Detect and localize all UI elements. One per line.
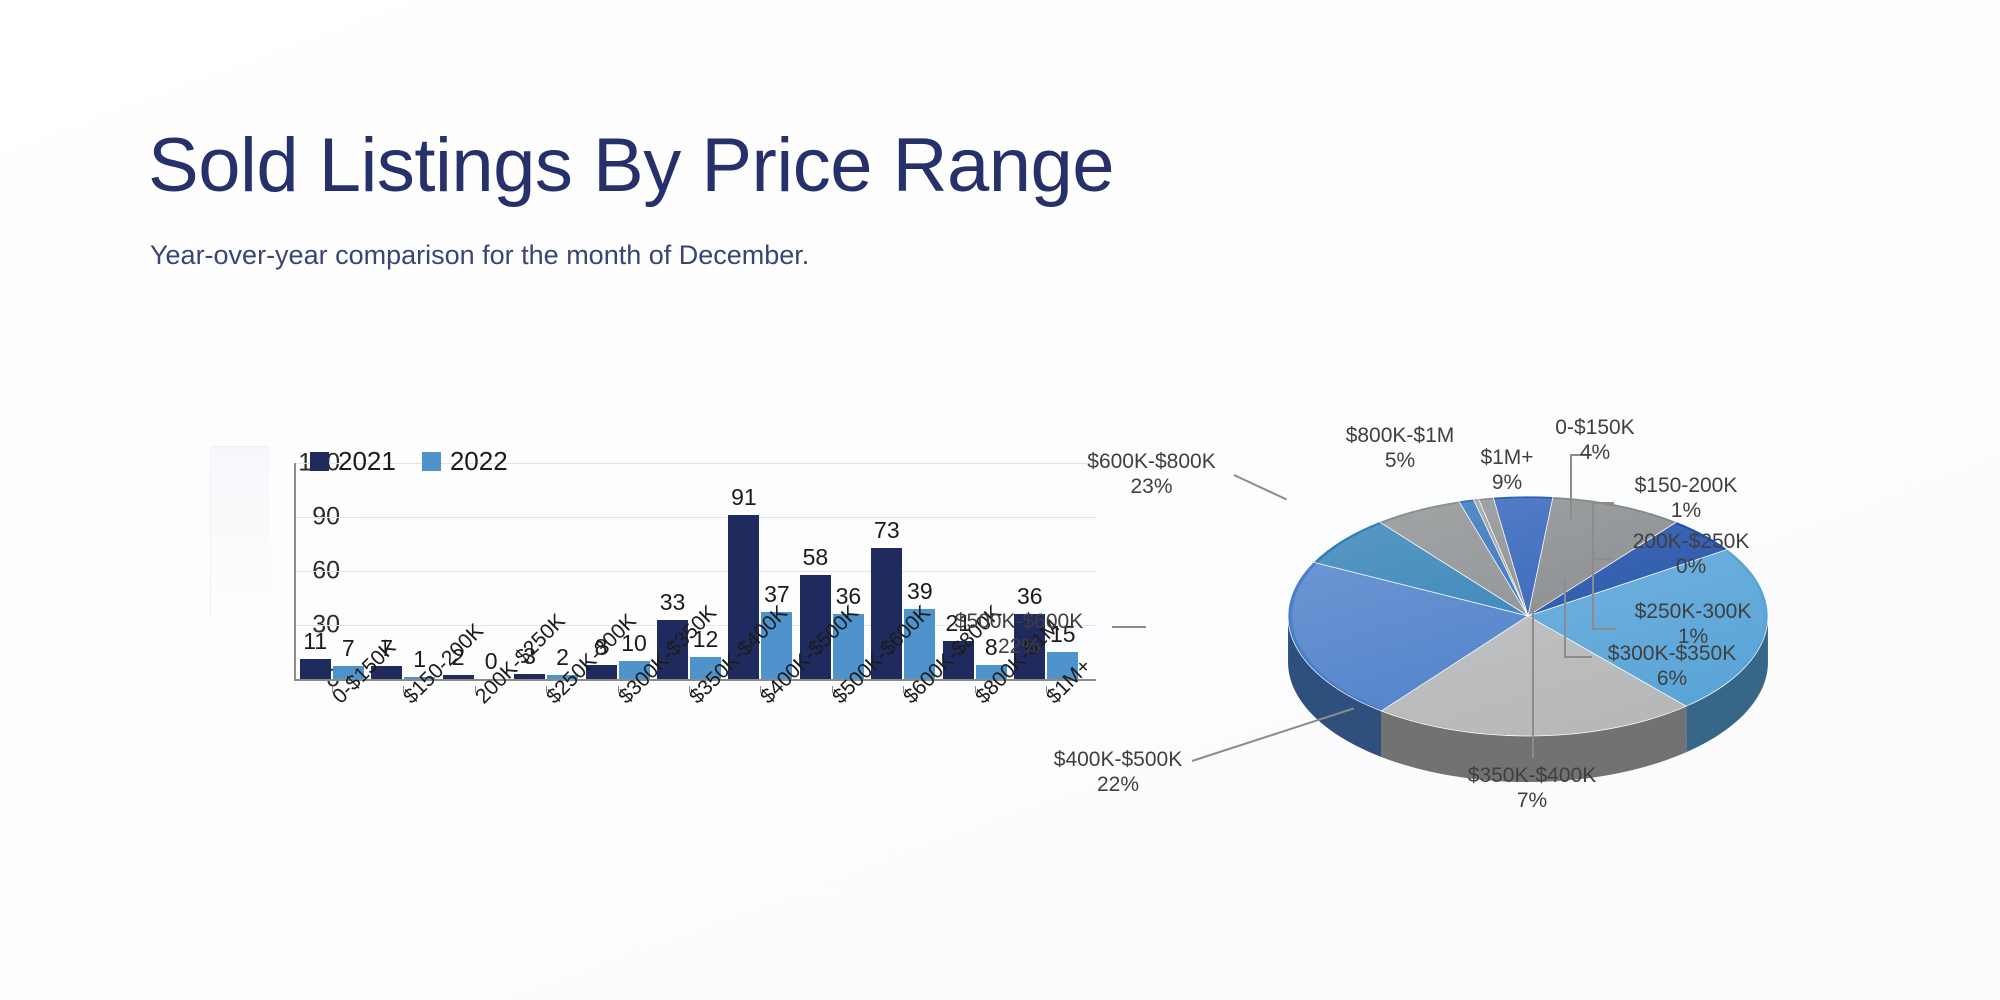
slide-canvas: Sold Listings By Price Range Year-over-y… (0, 0, 2000, 1000)
bar-value-label: 11 (303, 628, 327, 655)
bar-chart-x-labels: 0-$150K$150-200K200K-$250K$250K-300K$300… (296, 686, 1082, 826)
pie-label-pct-1m-plus: 9% (1462, 471, 1552, 496)
pie-label-name-200k-250k: 200K-$250K (1633, 530, 1750, 553)
pie-label-name-1m-plus: $1M+ (1480, 446, 1533, 469)
pie-label-pct-600k-800k: 23% (1064, 475, 1239, 500)
bar-y2022[interactable]: 37 (761, 463, 792, 679)
x-label-cell: $150-200K (367, 686, 438, 826)
pie-label-0-150k: 0-$150K 4% (1530, 416, 1660, 466)
leader-line-500k-600k (1112, 626, 1146, 628)
page-title: Sold Listings By Price Range (148, 128, 1114, 204)
pie-label-name-250k-300k: $250K-300K (1635, 600, 1752, 623)
pie-label-pct-400k-500k: 22% (1038, 773, 1198, 798)
bar-value-label: 7 (342, 635, 355, 662)
pie-label-name-150-200k: $150-200K (1635, 474, 1738, 497)
bar-value-label: 91 (731, 484, 757, 511)
leader-line-350k-400k (1532, 608, 1534, 758)
pie-label-name-500k-600k: $500K-$600K (955, 610, 1083, 633)
bar-y2022[interactable]: 0 (476, 463, 507, 679)
pie-label-pct-300k-350k: 6% (1592, 667, 1752, 692)
pie-label-pct-0-150k: 4% (1530, 441, 1660, 466)
pie-label-600k-800k: $600K-$800K 23% (1064, 450, 1239, 500)
pie-label-300k-350k: $300K-$350K 6% (1592, 642, 1752, 692)
pie-label-pct-150-200k: 1% (1616, 499, 1756, 524)
bar-rect (300, 659, 331, 679)
leader-line-250k-300k-h (1592, 628, 1616, 630)
pie-label-pct-800k-1m: 5% (1330, 449, 1470, 474)
pie-label-name-800k-1m: $800K-$1M (1346, 424, 1455, 447)
pie-chart-svg (1130, 430, 1950, 910)
leader-line-250k-300k (1592, 502, 1594, 630)
pie-label-name-600k-800k: $600K-$800K (1087, 450, 1215, 473)
pie-label-name-350k-400k: $350K-$400K (1468, 764, 1596, 787)
page-subtitle: Year-over-year comparison for the month … (150, 240, 809, 271)
bar-group: 117 (296, 463, 367, 679)
x-label-cell: $350K-$400K (653, 686, 724, 826)
pie-label-pct-200k-250k: 0% (1616, 555, 1766, 580)
x-label-cell: $300K-$350K (582, 686, 653, 826)
bar-y2022[interactable]: 36 (833, 463, 864, 679)
bar-y2022[interactable]: 10 (619, 463, 650, 679)
bar-value-label: 36 (1017, 583, 1043, 610)
bar-value-label: 33 (660, 589, 686, 616)
pie-label-name-400k-500k: $400K-$500K (1054, 748, 1182, 771)
pie-chart[interactable]: $600K-$800K 23% $800K-$1M 5% $1M+ 9% 0-$… (1130, 430, 1950, 910)
bar-y2022[interactable]: 2 (547, 463, 578, 679)
x-label-cell: $400K-$500K (725, 686, 796, 826)
pie-label-200k-250k: 200K-$250K 0% (1616, 530, 1766, 580)
bar-y2022[interactable]: 1 (404, 463, 435, 679)
pie-label-150-200k: $150-200K 1% (1616, 474, 1756, 524)
leader-line-300k-350k-v (1564, 580, 1566, 658)
pie-label-name-300k-350k: $300K-$350K (1608, 642, 1736, 665)
leader-line-300k-350k-h (1564, 656, 1592, 658)
leader-line-200k-250k (1592, 558, 1614, 560)
x-label-cell: $250K-300K (510, 686, 581, 826)
pie-label-pct-350k-400k: 7% (1452, 789, 1612, 814)
bar-y2021[interactable]: 11 (300, 463, 331, 679)
leader-line-150-200k (1592, 502, 1614, 504)
pie-label-350k-400k: $350K-$400K 7% (1452, 764, 1612, 814)
x-label-cell: $600K-$800K (868, 686, 939, 826)
pie-label-800k-1m: $800K-$1M 5% (1330, 424, 1470, 474)
pie-label-400k-500k: $400K-$500K 22% (1038, 748, 1198, 798)
pie-label-name-0-150k: 0-$150K (1555, 416, 1634, 439)
pie-label-500k-600k: $500K-$600K 22% (934, 610, 1104, 660)
bar-y2022[interactable]: 7 (333, 463, 364, 679)
x-label-cell: $500K-$600K (796, 686, 867, 826)
pie-label-pct-500k-600k: 22% (934, 635, 1104, 660)
x-label-cell: 200K-$250K (439, 686, 510, 826)
bar-y2022[interactable]: 12 (690, 463, 721, 679)
bar-value-label: 58 (803, 544, 829, 571)
bar-value-label: 39 (907, 578, 933, 605)
bar-y2022[interactable]: 39 (904, 463, 935, 679)
bar-value-label: 73 (874, 517, 900, 544)
x-label-cell: 0-$150K (296, 686, 367, 826)
x-label-cell: $800K-$1M (939, 686, 1010, 826)
